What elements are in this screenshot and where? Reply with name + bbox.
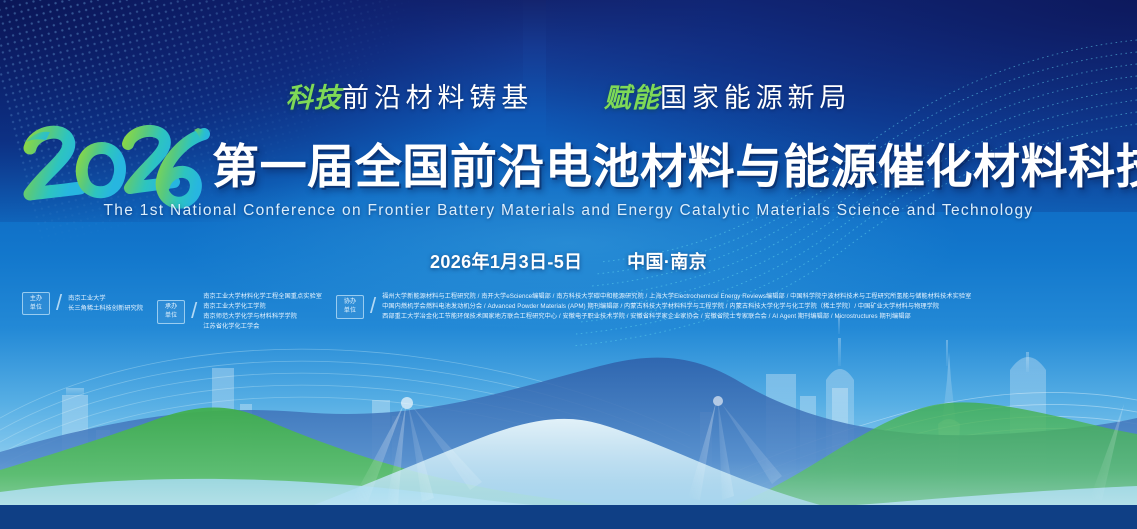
organizer-line: 中国内燃机学会燃料电池发动机分会 / Advanced Powder Mater… xyxy=(382,302,971,312)
tagline-brush-1: 科技 xyxy=(286,83,342,114)
tagline: 科技前沿材料铸基 赋能国家能源新局 xyxy=(0,76,1137,115)
organizer-line: 南京工业大学 xyxy=(68,294,143,304)
organizer-badge-coorganizer: 协办 单位 xyxy=(336,295,364,318)
organizer-separator: / xyxy=(191,300,197,322)
tagline-plain-1: 前沿材料铸基 xyxy=(342,83,533,113)
organizer-separator: / xyxy=(56,292,62,314)
organizer-list-coorganizer: 福州大学新能源材料与工程研究院 / 南开大学eScience编辑部 / 南方科技… xyxy=(382,292,971,322)
badge-line-2: 单位 xyxy=(24,304,48,313)
organizer-list-host: 南京工业大学 长三角稀土科技创新研究院 xyxy=(68,294,143,314)
organizer-line: 南京师范大学化学与材料科学学院 xyxy=(203,312,322,322)
event-meta: 2026年1月3日-5日 中国·南京 xyxy=(0,248,1137,274)
organizer-line: 长三角稀土科技创新研究院 xyxy=(68,304,143,314)
organizer-strip: 主办 单位 / 南京工业大学 长三角稀土科技创新研究院 承办 单位 / 南京工业… xyxy=(0,292,1137,332)
page-title: 第一届全国前沿电池材料与能源催化材料科技大会 xyxy=(212,143,1130,190)
organizer-line: 南京工业大学材料化学工程全国重点实验室 xyxy=(203,292,322,302)
event-date: 2026年1月3日-5日 xyxy=(430,252,582,272)
organizer-badge-host: 主办 单位 xyxy=(22,292,50,315)
badge-line-1: 承办 xyxy=(159,303,183,312)
conference-banner: 科技前沿材料铸基 赋能国家能源新局 第一届全国前沿电池材料与能源催化材料科技大会… xyxy=(0,0,1137,529)
tagline-plain-2: 国家能源新局 xyxy=(660,83,851,113)
organizer-block-undertaker: 承办 单位 / 南京工业大学材料化学工程全国重点实验室 南京工业大学化工学院 南… xyxy=(157,292,322,332)
badge-line-1: 协办 xyxy=(338,298,362,307)
organizer-block-host: 主办 单位 / 南京工业大学 长三角稀土科技创新研究院 xyxy=(22,292,143,315)
organizer-line: 江苏省化学化工学会 xyxy=(203,322,322,332)
organizer-badge-undertaker: 承办 单位 xyxy=(157,300,185,323)
badge-line-2: 单位 xyxy=(159,312,183,321)
badge-line-2: 单位 xyxy=(338,307,362,316)
organizer-line: 福州大学新能源材料与工程研究院 / 南开大学eScience编辑部 / 南方科技… xyxy=(382,292,971,302)
organizer-block-coorganizer: 协办 单位 / 福州大学新能源材料与工程研究院 / 南开大学eScience编辑… xyxy=(336,292,1115,322)
badge-line-1: 主办 xyxy=(24,295,48,304)
tagline-brush-2: 赋能 xyxy=(604,83,660,114)
event-location: 中国·南京 xyxy=(627,252,707,272)
organizer-line: 南京工业大学化工学院 xyxy=(203,302,322,312)
bottom-accent-bar xyxy=(0,505,1137,529)
organizer-separator: / xyxy=(370,295,376,317)
organizer-list-undertaker: 南京工业大学材料化学工程全国重点实验室 南京工业大学化工学院 南京师范大学化学与… xyxy=(203,292,322,332)
organizer-line: 西部重工大学冶金化工节能环保技术国家地方联合工程研究中心 / 安徽电子职业技术学… xyxy=(382,312,971,322)
page-subtitle-english: The 1st National Conference on Frontier … xyxy=(0,202,1137,220)
